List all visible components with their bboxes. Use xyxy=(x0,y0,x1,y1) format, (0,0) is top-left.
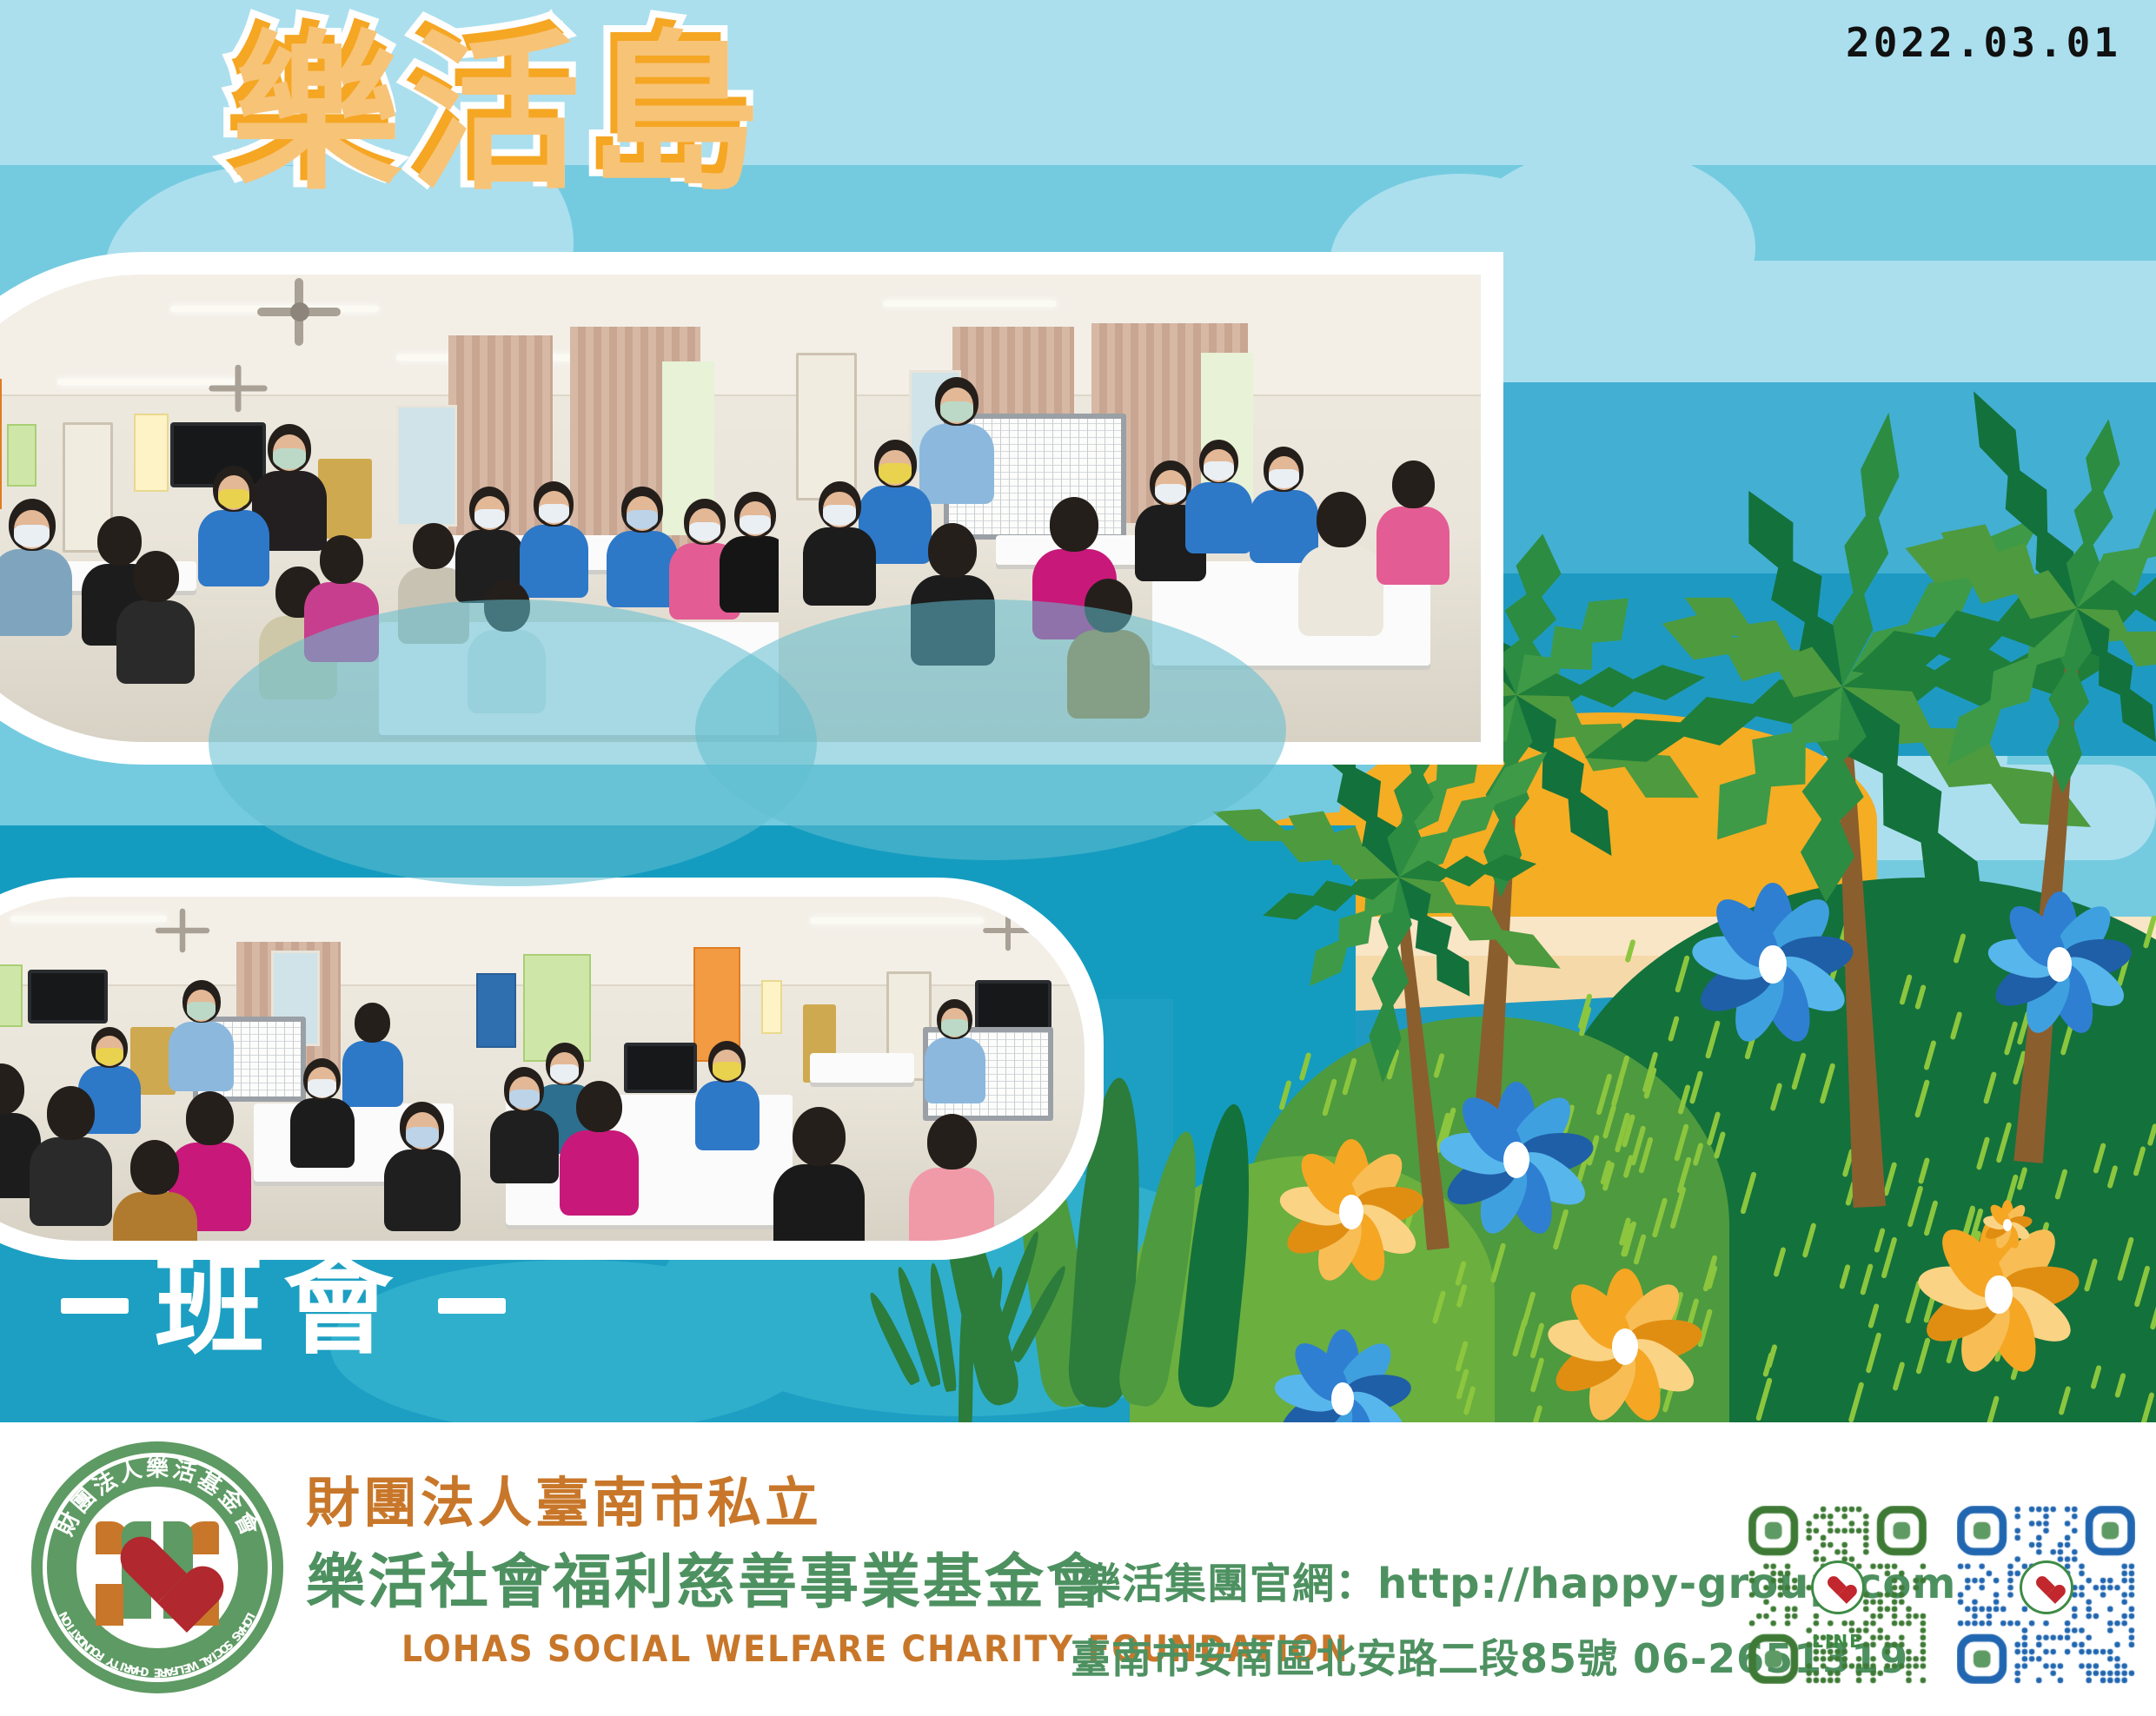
photo-person xyxy=(718,492,779,607)
person-head xyxy=(927,1114,977,1169)
flower-blue xyxy=(1988,893,2131,1036)
person-head xyxy=(47,1086,95,1140)
date-stamp: 2022.03.01 xyxy=(1846,19,2121,66)
photo-person xyxy=(488,1067,561,1179)
person-face-mask xyxy=(823,505,855,526)
person-head xyxy=(355,1003,390,1043)
person-face-mask xyxy=(1269,469,1299,488)
person-head xyxy=(133,551,179,602)
photo-classroom-schedule-board xyxy=(462,897,1085,1241)
photo-person xyxy=(801,481,878,600)
label-dash-right-icon xyxy=(438,1298,506,1314)
person-face-mask xyxy=(1204,461,1233,480)
photo-person xyxy=(558,1081,640,1209)
photo-person xyxy=(111,1140,199,1241)
photo-person xyxy=(28,1086,114,1220)
person-head xyxy=(1392,460,1435,508)
person-torso xyxy=(490,1110,559,1184)
person-face-mask xyxy=(406,1127,440,1148)
foundation-seal-logo: 財團法人樂活基金會 LOHAS SOCIAL WELFARE CHARITY F… xyxy=(31,1441,283,1693)
qr-center-logo-icon xyxy=(2020,1560,2073,1614)
photo-person xyxy=(772,1107,867,1241)
photo-ceiling-fan-icon xyxy=(209,386,267,392)
qr-line-label: LINE xyxy=(1812,1631,1863,1652)
org-name-line2: 樂活社會福利慈善事業基金會 xyxy=(306,1534,1108,1620)
footer-bar: 財團法人樂活基金會 LOHAS SOCIAL WELFARE CHARITY F… xyxy=(0,1422,2156,1716)
person-torso xyxy=(773,1164,865,1241)
person-head xyxy=(1050,497,1098,552)
flower-center xyxy=(1985,1275,2012,1314)
photo-wall-poster xyxy=(761,980,782,1034)
flower-center xyxy=(1339,1195,1363,1229)
poster-canvas: 樂活島 樂活島 2022.03.01 班會 財團法人樂活基金會 LOHAS SO… xyxy=(0,0,2156,1716)
org-name-line1: 財團法人臺南市私立 xyxy=(306,1459,822,1537)
photo-person xyxy=(1297,492,1386,631)
person-torso xyxy=(720,536,779,612)
photo-person xyxy=(289,1058,355,1163)
qr-center-logo-icon xyxy=(1811,1560,1865,1614)
person-face-mask xyxy=(273,448,306,469)
person-head xyxy=(0,1063,24,1115)
person-face-mask xyxy=(308,1079,336,1097)
person-torso xyxy=(925,1037,986,1103)
photo-strip-bottom xyxy=(0,897,1085,1241)
photo-table xyxy=(810,1053,914,1083)
person-torso xyxy=(30,1137,112,1225)
photo-person xyxy=(167,980,236,1087)
person-torso xyxy=(1298,546,1383,637)
photo-overlay-wash xyxy=(695,600,1286,860)
person-head xyxy=(793,1107,846,1166)
photo-tv-icon xyxy=(28,970,108,1024)
person-torso xyxy=(113,1192,196,1241)
seal-arc-char: E xyxy=(154,1666,162,1679)
person-torso xyxy=(695,1081,760,1150)
flower-blue xyxy=(1440,1083,1593,1236)
person-torso xyxy=(384,1150,461,1231)
person-face-mask xyxy=(187,1002,216,1020)
photo-person xyxy=(518,481,590,593)
photo-panel-bottom xyxy=(0,878,1104,1260)
photo-person xyxy=(0,499,74,630)
person-torso xyxy=(909,1168,994,1241)
photo-person xyxy=(1184,440,1254,549)
flower-orange xyxy=(1983,1201,2032,1249)
photo-person xyxy=(1375,460,1451,580)
person-head xyxy=(130,1140,179,1195)
flower-center xyxy=(1331,1382,1355,1415)
photo-person xyxy=(923,999,987,1099)
photo-participants-seated xyxy=(0,897,462,1241)
poster-title-shadow: 樂活島 xyxy=(231,26,768,205)
photo-ceiling-fan-icon xyxy=(290,302,309,321)
flower-center xyxy=(1503,1142,1529,1178)
label-dash-left-icon xyxy=(61,1298,129,1314)
person-face-mask xyxy=(879,463,911,484)
person-face-mask xyxy=(96,1048,123,1065)
photo-person xyxy=(196,466,271,581)
photo-wall-poster xyxy=(7,424,36,487)
person-torso xyxy=(116,600,195,685)
photo-light-tube xyxy=(810,918,984,924)
photo-ceiling-fan-icon xyxy=(983,928,1033,933)
photo-person xyxy=(382,1102,462,1226)
person-face-mask xyxy=(539,504,569,523)
photo-light-tube xyxy=(10,916,167,922)
person-head xyxy=(320,535,363,584)
person-head xyxy=(928,523,977,578)
flower-blue xyxy=(1693,885,1853,1044)
person-head xyxy=(186,1091,234,1145)
person-face-mask xyxy=(474,509,505,528)
person-head xyxy=(413,523,454,569)
seal-heart-icon xyxy=(117,1539,197,1612)
qr-code-line[interactable]: LINE xyxy=(1748,1506,1927,1684)
photo-window xyxy=(396,405,457,527)
person-torso xyxy=(169,1022,235,1092)
person-face-mask xyxy=(509,1090,540,1109)
photo-person xyxy=(693,1041,760,1145)
qr-code-website[interactable] xyxy=(1957,1506,2135,1684)
photo-wall-poster xyxy=(0,379,2,509)
person-face-mask xyxy=(941,1019,968,1037)
person-head xyxy=(1317,492,1366,547)
person-face-mask xyxy=(940,401,973,422)
section-label-text: 班會 xyxy=(155,1251,412,1361)
photo-wall-poster xyxy=(134,414,169,492)
person-torso xyxy=(0,549,72,635)
flower-orange xyxy=(1549,1270,1702,1423)
flower-center xyxy=(1759,945,1786,984)
person-torso xyxy=(290,1098,355,1167)
person-torso xyxy=(1185,482,1252,554)
flower-center xyxy=(1612,1328,1638,1365)
person-face-mask xyxy=(713,1062,741,1080)
photo-ceiling-fan-icon xyxy=(156,928,209,934)
person-head xyxy=(576,1081,622,1132)
person-torso xyxy=(560,1130,639,1216)
photo-wall-poster xyxy=(476,973,516,1048)
person-torso xyxy=(803,527,876,606)
photo-wall-poster xyxy=(0,964,23,1027)
photo-light-tube xyxy=(57,379,240,385)
flower-orange xyxy=(1280,1141,1423,1283)
flower-center xyxy=(2047,947,2072,981)
flower-center xyxy=(2003,1219,2012,1230)
section-label: 班會 xyxy=(61,1251,506,1361)
photo-person xyxy=(907,1114,997,1241)
photo-light-tube xyxy=(883,301,1057,307)
photo-door xyxy=(796,353,857,500)
photo-person xyxy=(115,551,197,679)
person-torso xyxy=(1377,507,1449,585)
